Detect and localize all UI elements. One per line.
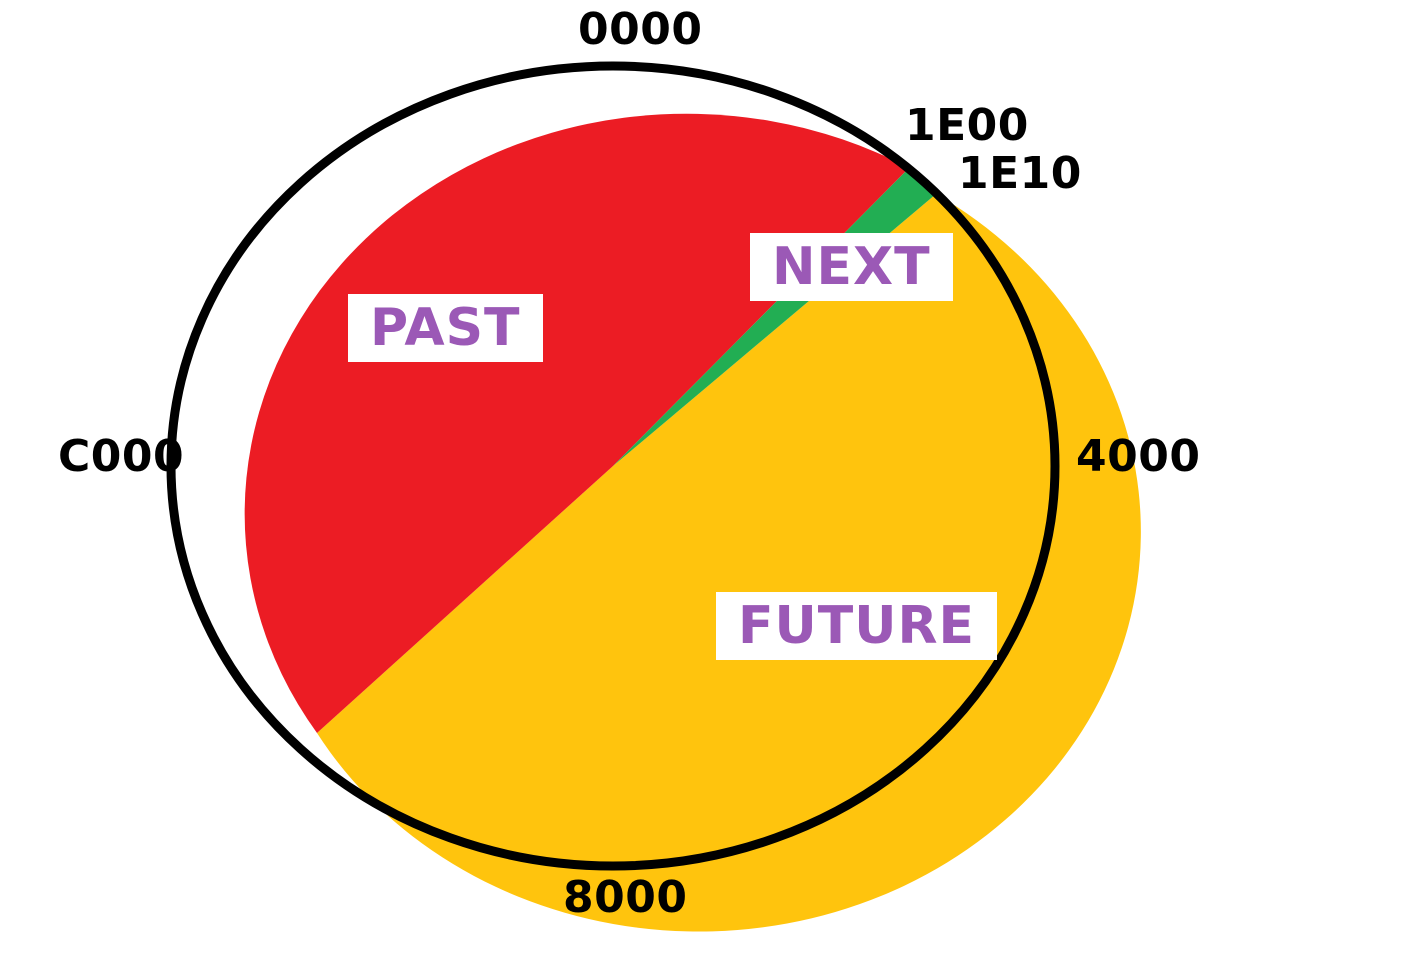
tick-label-C000: C000 [58,435,184,479]
tick-label-8000: 8000 [563,876,687,920]
region-label-next: NEXT [750,233,953,301]
tick-label-1E00: 1E00 [905,104,1029,148]
sequence-number-wheel-figure: 0000 1E00 1E10 4000 8000 C000 PAST NEXT … [0,0,1404,949]
region-label-future: FUTURE [716,592,997,660]
tick-label-4000: 4000 [1076,435,1200,479]
tick-label-0000: 0000 [578,8,702,52]
region-label-past: PAST [348,294,543,362]
tick-label-1E10: 1E10 [958,152,1082,196]
